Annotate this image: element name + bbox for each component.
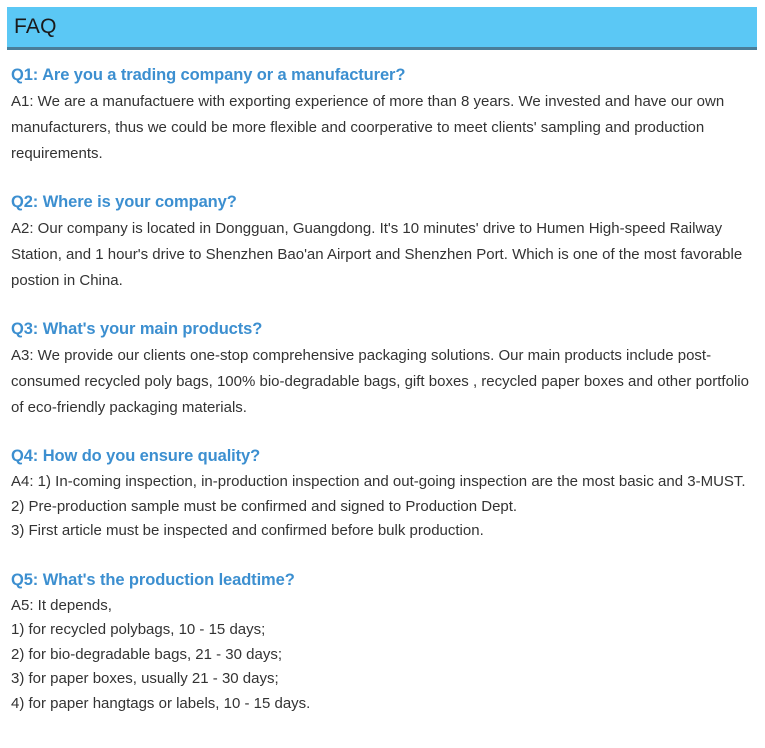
answer-line: 2) for bio-degradable bags, 21 - 30 days… [11, 643, 751, 668]
answer-line: 3) for paper boxes, usually 21 - 30 days… [11, 667, 751, 692]
faq-question-q3: Q3: What's your main products? [11, 316, 751, 342]
faq-banner: FAQ [7, 7, 757, 50]
faq-content: Q1: Are you a trading company or a manuf… [11, 62, 751, 725]
faq-item-q5: Q5: What's the production leadtime? A5: … [11, 567, 751, 717]
faq-answer-q2: A2: Our company is located in Dongguan, … [11, 216, 751, 294]
answer-line: A4: 1) In-coming inspection, in-producti… [11, 470, 751, 495]
faq-answer-q4: A4: 1) In-coming inspection, in-producti… [11, 470, 751, 544]
faq-answer-q3: A3: We provide our clients one-stop comp… [11, 343, 751, 421]
faq-spacer [11, 303, 751, 316]
answer-line: 1) for recycled polybags, 10 - 15 days; [11, 618, 751, 643]
faq-item-q4: Q4: How do you ensure quality? A4: 1) In… [11, 443, 751, 544]
faq-question-q1: Q1: Are you a trading company or a manuf… [11, 62, 751, 88]
faq-item-q2: Q2: Where is your company? A2: Our compa… [11, 189, 751, 294]
faq-spacer [11, 553, 751, 567]
faq-spacer [11, 176, 751, 189]
answer-line: A5: It depends, [11, 594, 751, 619]
faq-banner-title: FAQ [14, 14, 57, 40]
faq-question-q4: Q4: How do you ensure quality? [11, 443, 751, 469]
answer-line: 3) First article must be inspected and c… [11, 519, 751, 544]
faq-spacer [11, 430, 751, 443]
faq-page: FAQ Q1: Are you a trading company or a m… [0, 0, 765, 748]
faq-item-q3: Q3: What's your main products? A3: We pr… [11, 316, 751, 421]
faq-item-q1: Q1: Are you a trading company or a manuf… [11, 62, 751, 167]
faq-answer-q5: A5: It depends,1) for recycled polybags,… [11, 594, 751, 717]
faq-question-q2: Q2: Where is your company? [11, 189, 751, 215]
answer-line: 4) for paper hangtags or labels, 10 - 15… [11, 692, 751, 717]
faq-question-q5: Q5: What's the production leadtime? [11, 567, 751, 593]
faq-answer-q1: A1: We are a manufactuere with exporting… [11, 89, 751, 167]
answer-line: 2) Pre-production sample must be confirm… [11, 495, 751, 520]
